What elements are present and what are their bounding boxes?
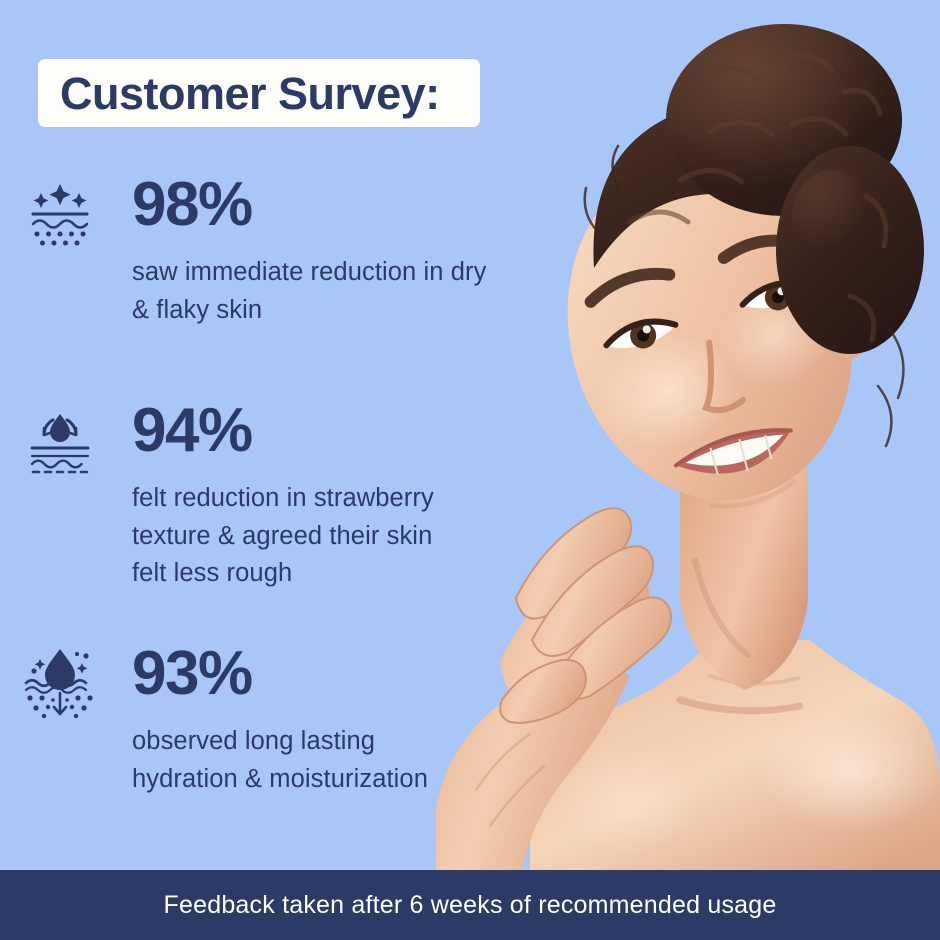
stat-percent-3: 93% <box>132 643 252 705</box>
stat-description-2: felt reduction in strawberry texture & a… <box>132 480 434 593</box>
page-title: Customer Survey: <box>60 71 440 116</box>
title-pill: Customer Survey: <box>38 59 480 127</box>
stat-percent-2: 94% <box>132 400 252 462</box>
model-photo <box>380 0 940 880</box>
stat-percent-1: 98% <box>132 174 252 236</box>
stat-description-1: saw immediate reduction in dry & flaky s… <box>132 254 486 329</box>
footer-bar: Feedback taken after 6 weeks of recommen… <box>0 870 940 940</box>
water-droplet-renewal-icon <box>24 404 96 476</box>
sparkle-smooth-skin-icon <box>24 178 96 250</box>
infographic-canvas: Customer Survey: <box>0 0 940 940</box>
footer-note: Feedback taken after 6 weeks of recommen… <box>164 891 777 920</box>
droplet-absorption-icon <box>20 645 100 721</box>
stat-description-3: observed long lasting hydration & moistu… <box>132 723 428 798</box>
